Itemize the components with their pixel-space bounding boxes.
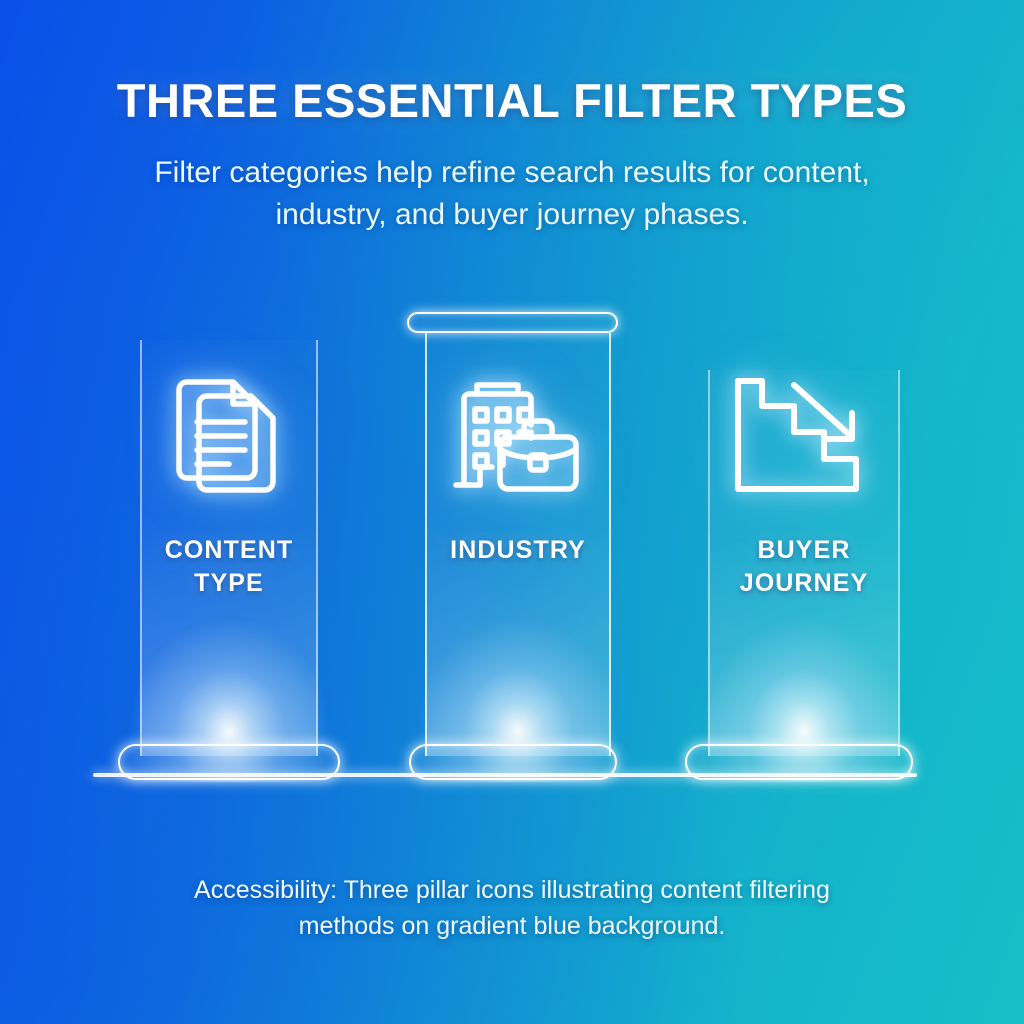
pillar-label-line2: TYPE — [140, 567, 318, 600]
documents-icon — [169, 372, 289, 502]
pillar-label-content-type: CONTENT TYPE — [140, 534, 318, 599]
pillar-label-line1: CONTENT — [140, 534, 318, 567]
pillar-label-buyer-journey: BUYER JOURNEY — [708, 534, 900, 599]
pillar-label-line2: JOURNEY — [708, 567, 900, 600]
accessibility-caption: Accessibility: Three pillar icons illust… — [0, 872, 1024, 945]
pillar-capital-industry — [407, 312, 618, 333]
pillar-label-industry: INDUSTRY — [425, 534, 611, 567]
pillar-label-line1: BUYER — [708, 534, 900, 567]
pillar-label-line1: INDUSTRY — [425, 534, 611, 567]
pillars-scene: CONTENT TYPE — [0, 0, 1024, 1024]
ground-line — [93, 773, 917, 777]
infographic-canvas: THREE ESSENTIAL FILTER TYPES Filter cate… — [0, 0, 1024, 1024]
descending-stairs-arrow-icon — [727, 372, 867, 500]
building-briefcase-icon — [449, 374, 583, 502]
